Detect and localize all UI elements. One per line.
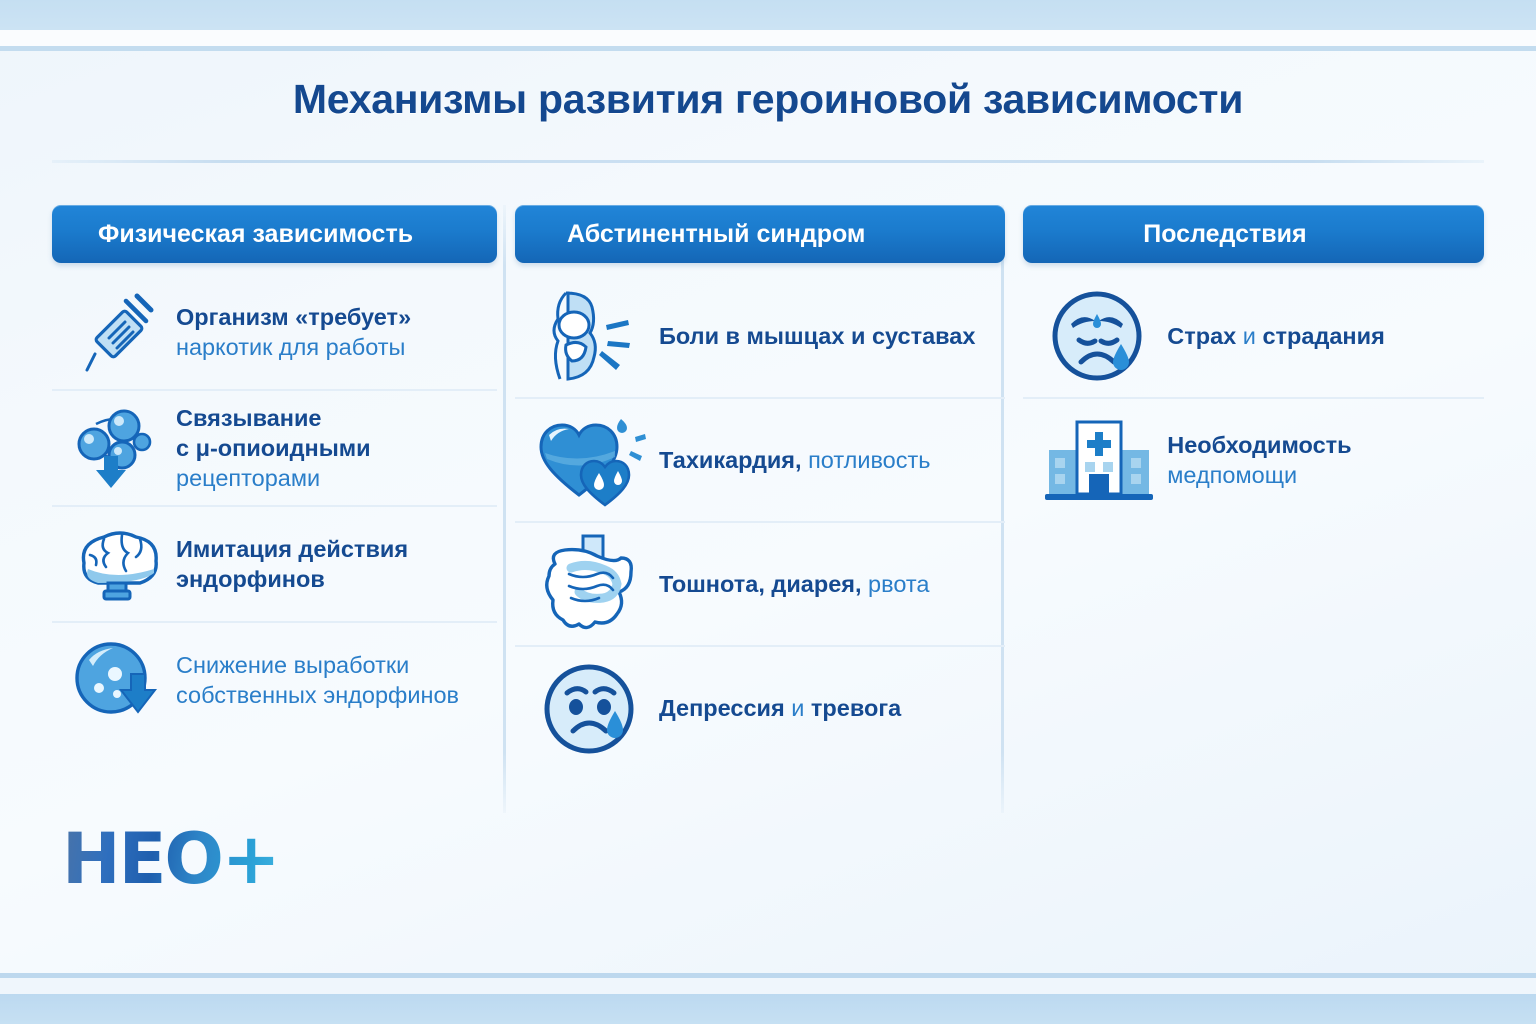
infographic-poster: Механизмы развития героиновой зависимост… <box>0 0 1536 1024</box>
list-item-rest: медпомощи <box>1167 462 1297 488</box>
list-item-label: Организм «требует» наркотик для работы <box>176 302 411 362</box>
sad-face-icon <box>529 659 653 759</box>
list-item-rest: рвота <box>862 571 930 597</box>
brain-icon <box>66 518 170 610</box>
list-item[interactable]: Связывание с μ-опиоидными рецепторами <box>52 391 497 507</box>
column-1-rows: Организм «требует» наркотик для работы <box>52 275 497 737</box>
top-band-gap <box>0 30 1536 46</box>
top-band-line <box>0 46 1536 51</box>
list-item-bold: Тахикардия, <box>659 447 802 473</box>
list-item-rest: потливость <box>802 447 931 473</box>
columns-container: Физическая зависимость <box>52 205 1484 770</box>
column-physical-dependence: Физическая зависимость <box>52 205 497 770</box>
bottom-band-gap <box>0 978 1536 994</box>
list-item-bold: Необходимость <box>1167 432 1351 458</box>
title-divider <box>52 160 1484 163</box>
list-item-rest: наркотик для работы <box>176 334 405 360</box>
syringe-icon <box>66 286 170 378</box>
list-item[interactable]: Необходимость медпомощи <box>1023 399 1484 521</box>
list-item[interactable]: Тошнота, диарея, рвота <box>515 523 1005 647</box>
top-band <box>0 0 1536 30</box>
list-item-label: Имитация действия эндорфинов <box>176 534 408 594</box>
list-item-label: Депрессия и тревога <box>659 693 901 723</box>
list-item-bold-2: страдания <box>1262 323 1384 349</box>
list-item-rest: Снижение выработки собственных эндорфино… <box>176 652 459 708</box>
heart-sweat-icon <box>529 410 653 510</box>
list-item-bold-2: тревога <box>811 695 901 721</box>
hospital-icon <box>1037 410 1161 510</box>
list-item-label: Тахикардия, потливость <box>659 445 931 475</box>
list-item-label: Снижение выработки собственных эндорфино… <box>176 650 459 710</box>
list-item-bold: Депрессия <box>659 695 785 721</box>
list-item-bold: Тошнота, диарея, <box>659 571 862 597</box>
list-item[interactable]: Страх и страдания <box>1023 275 1484 399</box>
intestine-icon <box>529 534 653 634</box>
list-item-label: Необходимость медпомощи <box>1167 430 1351 490</box>
list-item-mid: и <box>785 695 811 721</box>
page-title: Механизмы развития героиновой зависимост… <box>0 76 1536 123</box>
endorphin-decrease-icon <box>66 634 170 726</box>
list-item[interactable]: Имитация действия эндорфинов <box>52 507 497 623</box>
list-item[interactable]: Организм «требует» наркотик для работы <box>52 275 497 391</box>
list-item-mid: и <box>1236 323 1262 349</box>
brand-logo: НЕО+ <box>62 818 279 900</box>
list-item-bold: Связывание с μ-опиоидными <box>176 405 371 461</box>
list-item-bold: Боли в мышцах и суставах <box>659 323 975 349</box>
column-2-rows: Боли в мышцах и суставах <box>515 275 1005 770</box>
column-consequences: Последствия <box>1023 205 1484 770</box>
column-header-3: Последствия <box>1023 205 1484 263</box>
list-item[interactable]: Тахикардия, потливость <box>515 399 1005 523</box>
list-item-label: Боли в мышцах и суставах <box>659 321 975 351</box>
joint-pain-icon <box>529 286 653 386</box>
list-item-bold: Организм «требует» <box>176 304 411 330</box>
list-item[interactable]: Боли в мышцах и суставах <box>515 275 1005 399</box>
column-header-2: Абстинентный синдром <box>515 205 1005 263</box>
list-item-bold: Страх <box>1167 323 1236 349</box>
molecule-icon <box>66 402 170 494</box>
column-3-rows: Страх и страдания <box>1023 275 1484 521</box>
list-item-label: Тошнота, диарея, рвота <box>659 569 929 599</box>
column-header-1: Физическая зависимость <box>52 205 497 263</box>
list-item-bold: Имитация действия эндорфинов <box>176 536 408 592</box>
list-item[interactable]: Снижение выработки собственных эндорфино… <box>52 623 497 737</box>
list-item-label: Страх и страдания <box>1167 321 1385 351</box>
list-item-label: Связывание с μ-опиоидными рецепторами <box>176 403 371 493</box>
list-item[interactable]: Депрессия и тревога <box>515 647 1005 770</box>
bottom-band <box>0 994 1536 1024</box>
crying-face-icon <box>1037 286 1161 386</box>
column-withdrawal-syndrome: Абстинентный синдром <box>515 205 1005 770</box>
list-item-rest: рецепторами <box>176 465 320 491</box>
